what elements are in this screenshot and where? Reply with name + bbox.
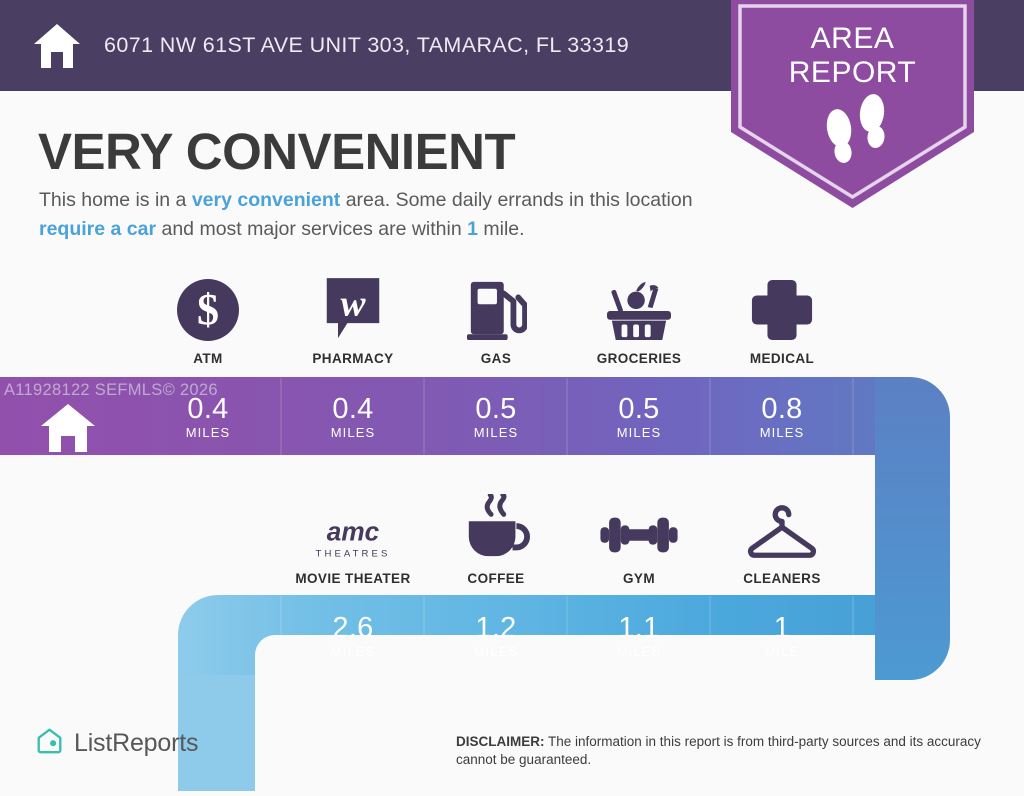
amenity-label: MEDICAL (707, 351, 857, 366)
summary-text: This home is in a very convenient area. … (39, 186, 729, 244)
summary-part-2: area. Some daily errands in this locatio… (340, 189, 692, 211)
walgreens-w-icon: w (278, 270, 428, 342)
summary-highlight-2: require a car (39, 218, 156, 240)
summary-part-3: and most major services are within (156, 218, 467, 240)
amenity-label: GAS (421, 351, 571, 366)
svg-text:$: $ (197, 285, 219, 334)
gas-pump-icon (421, 270, 571, 342)
summary-highlight-1: very convenient (192, 189, 340, 211)
page-title: VERY CONVENIENT (38, 122, 515, 181)
medical-cross-icon (707, 270, 857, 342)
listreports-brand: ListReports (36, 727, 198, 759)
summary-part-1: This home is in a (39, 189, 192, 211)
amenity-label: PHARMACY (278, 351, 428, 366)
summary-part-4: mile. (478, 218, 525, 240)
amenity-label: ATM (133, 351, 283, 366)
amenity-groceries: GROCERIES (564, 270, 714, 366)
home-icon (40, 402, 96, 454)
amenity-label: GROCERIES (564, 351, 714, 366)
badge-line-2: REPORT (731, 56, 974, 90)
listreports-house-icon (36, 727, 63, 759)
badge-line-1: AREA (731, 22, 974, 56)
area-report-badge: AREA REPORT (731, 0, 974, 208)
svg-text:w: w (340, 284, 366, 325)
brand-name: ListReports (74, 729, 198, 758)
summary-highlight-3: 1 (467, 218, 478, 240)
badge-text: AREA REPORT (731, 22, 974, 90)
header-address: 6071 NW 61ST AVE UNIT 303, TAMARAC, FL 3… (104, 33, 629, 58)
grocery-basket-icon (564, 270, 714, 342)
disclaimer: DISCLAIMER: The information in this repo… (456, 733, 986, 769)
mls-watermark: A11928122 SEFMLS© 2026 (4, 381, 218, 400)
amenity-atm: $ ATM (133, 270, 283, 366)
area-report-page: 6071 NW 61ST AVE UNIT 303, TAMARAC, FL 3… (0, 0, 1024, 791)
disclaimer-label: DISCLAIMER: (456, 734, 545, 749)
home-icon (32, 22, 82, 70)
amenity-pharmacy: w PHARMACY (278, 270, 428, 366)
amenity-medical: MEDICAL (707, 270, 857, 366)
dollar-circle-icon: $ (133, 270, 283, 342)
amenity-gas: GAS (421, 270, 571, 366)
